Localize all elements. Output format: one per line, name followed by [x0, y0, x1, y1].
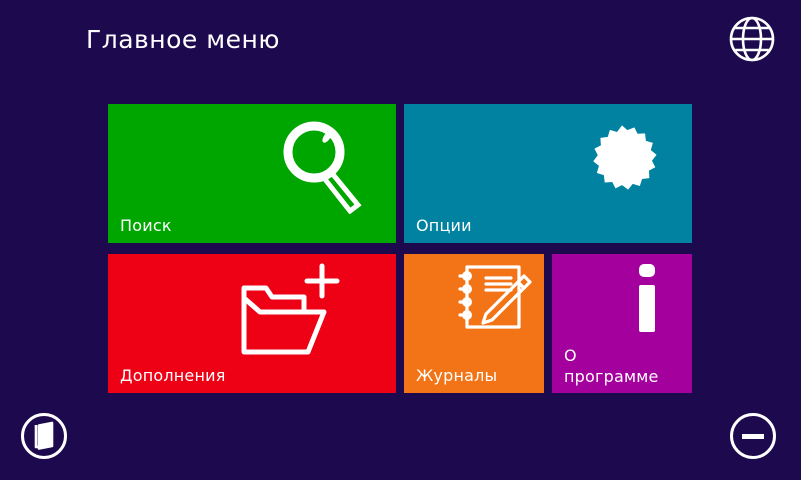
tile-journals-label: Журналы [416, 366, 497, 385]
tile-options[interactable]: Опции [404, 104, 692, 243]
notebook-pencil-icon [454, 262, 532, 342]
minimize-button[interactable] [727, 412, 779, 464]
tile-search-label: Поиск [120, 216, 172, 235]
tile-addons[interactable]: Дополнения [108, 254, 396, 393]
tile-addons-label: Дополнения [120, 366, 226, 385]
tile-search[interactable]: Поиск [108, 104, 396, 243]
minimize-icon [728, 411, 778, 465]
tile-options-label: Опции [416, 216, 472, 235]
exit-button[interactable] [18, 412, 70, 464]
tile-journals[interactable]: Журналы [404, 254, 544, 393]
language-button[interactable] [725, 14, 779, 68]
exit-door-icon [19, 411, 69, 465]
tile-about-label: О программе [564, 345, 659, 387]
main-menu-screen: Главное меню [0, 0, 801, 480]
globe-icon [727, 14, 777, 68]
info-icon [630, 260, 664, 340]
tile-about[interactable]: О программе [552, 254, 692, 393]
folder-plus-icon [236, 260, 342, 368]
gear-icon [574, 108, 670, 212]
tile-grid: Поиск Опции [108, 104, 692, 393]
page-title: Главное меню [86, 25, 280, 54]
magnifier-icon [276, 114, 368, 218]
